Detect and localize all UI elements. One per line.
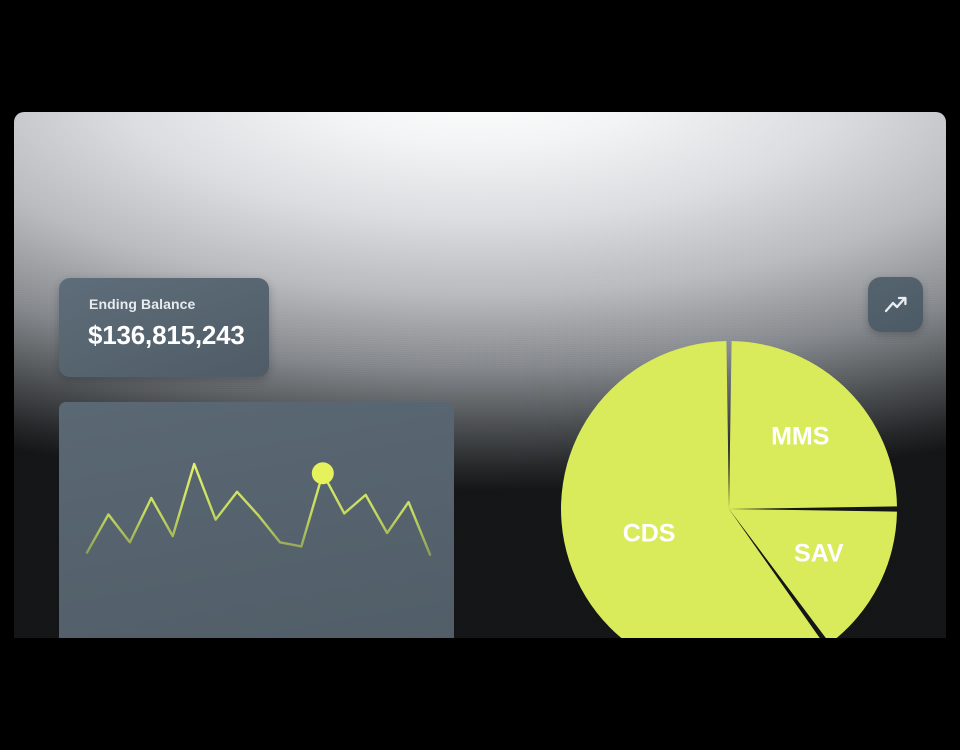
ending-balance-card[interactable]: Ending Balance $136,815,243	[59, 278, 269, 377]
pie-chart-container[interactable]: MMSSAVCDS	[554, 334, 904, 638]
pie-label-mms: MMS	[771, 422, 829, 450]
line-chart	[59, 402, 454, 638]
screenshot-root: Ending Balance $136,815,243	[0, 0, 960, 750]
line-series-path	[87, 464, 430, 555]
trending-up-icon	[882, 291, 910, 319]
ending-balance-value: $136,815,243	[88, 320, 245, 351]
pie-label-sav: SAV	[794, 539, 844, 567]
line-chart-card[interactable]	[59, 402, 454, 638]
pie-label-cds: CDS	[623, 520, 676, 548]
line-highlight-dot[interactable]	[312, 462, 334, 484]
pie-chart: MMSSAVCDS	[554, 334, 904, 638]
ending-balance-label: Ending Balance	[89, 296, 195, 312]
trending-up-button[interactable]	[868, 277, 923, 332]
pie-slices	[561, 341, 897, 638]
dashboard-panel: Ending Balance $136,815,243	[14, 112, 946, 638]
